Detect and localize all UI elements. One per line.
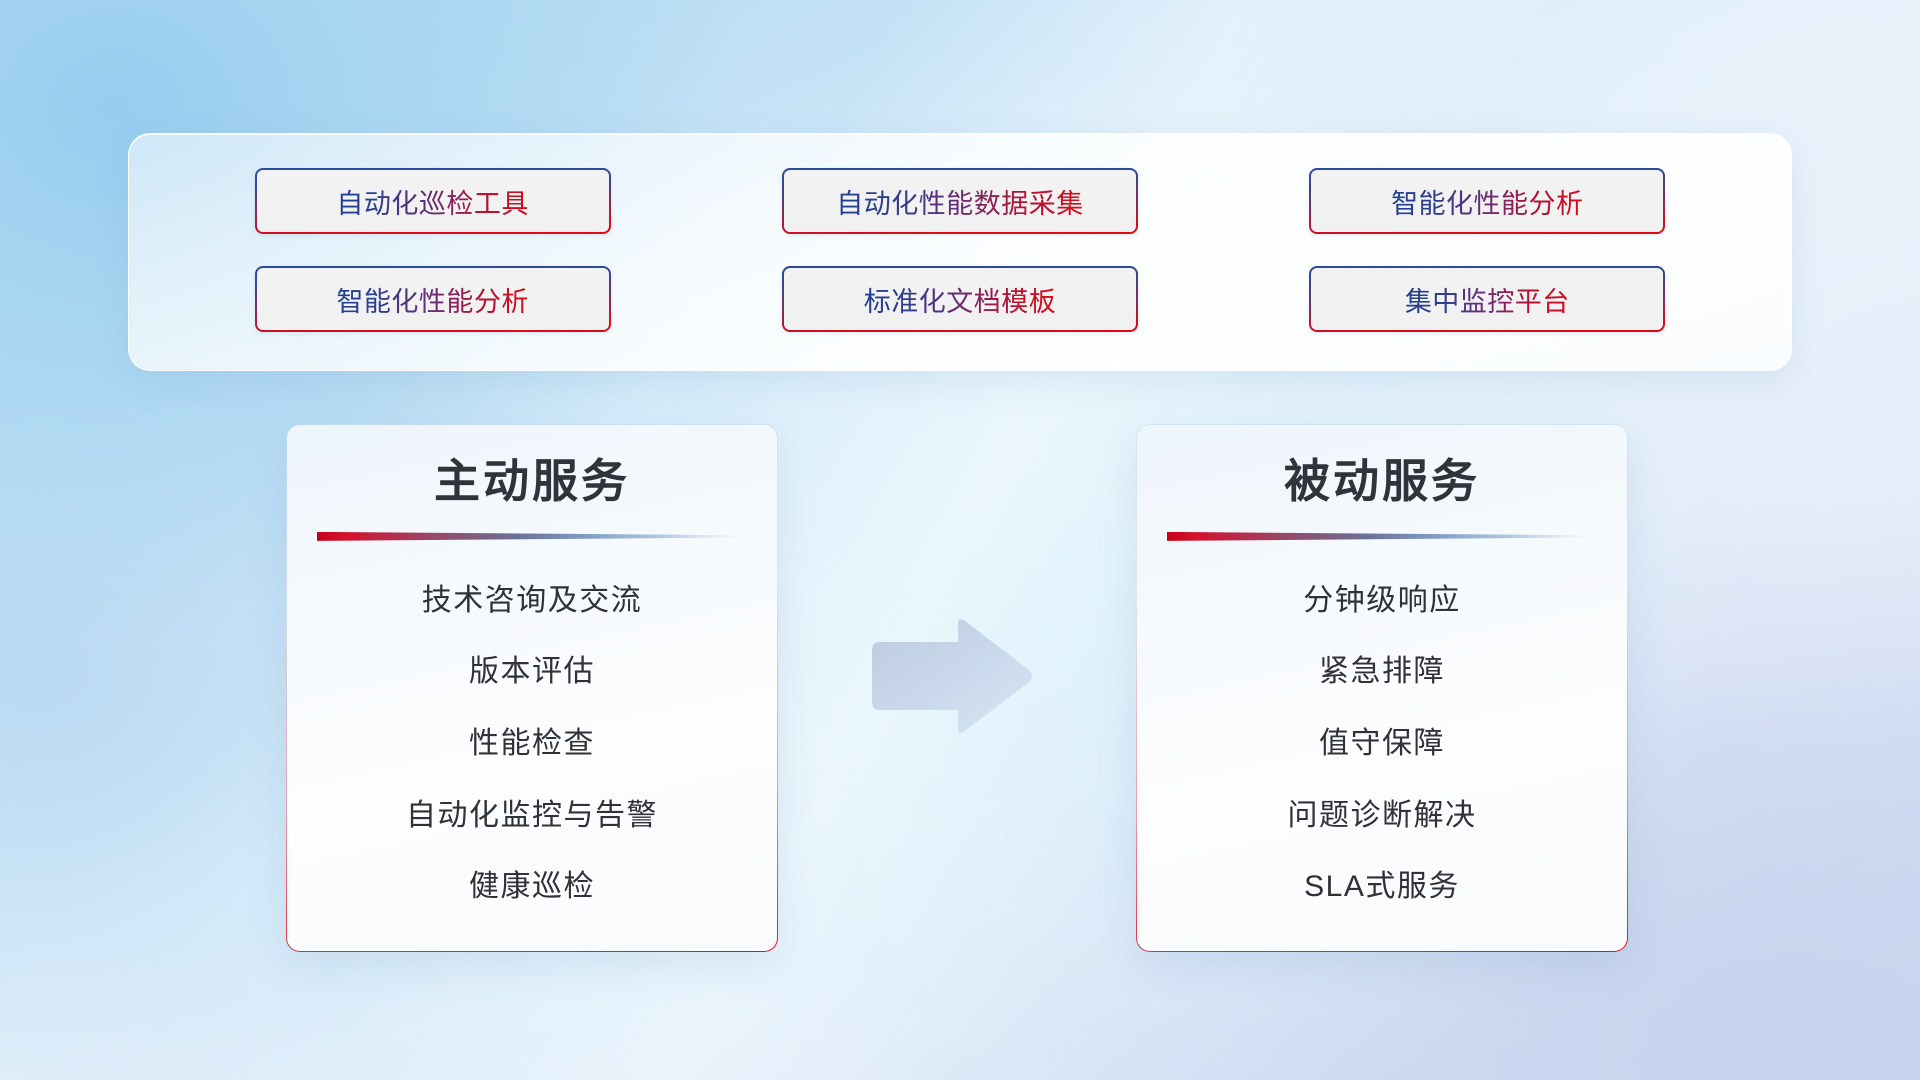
capability-pill-label: 标准化文档模板 xyxy=(864,280,1057,319)
service-card-proactive: 主动服务 技术咨询及交流 版本评估 性能检查 自动化监控与告警 健康巡检 xyxy=(286,424,778,952)
service-item: 技术咨询及交流 xyxy=(422,575,643,619)
service-card-title: 主动服务 xyxy=(317,455,747,508)
service-item: 自动化监控与告警 xyxy=(406,790,658,834)
service-item: 紧急排障 xyxy=(1319,646,1445,690)
capabilities-panel: 自动化巡检工具 自动化性能数据采集 智能化性能分析 智能化性能分析 标准化文档模… xyxy=(128,133,1792,371)
capability-pill-label: 自动化性能数据采集 xyxy=(836,182,1084,221)
service-item-list: 技术咨询及交流 版本评估 性能检查 自动化监控与告警 健康巡检 xyxy=(317,547,747,927)
service-item: SLA式服务 xyxy=(1304,861,1460,905)
capability-pill-6[interactable]: 集中监控平台 xyxy=(1309,266,1665,332)
capability-pill-1[interactable]: 自动化巡检工具 xyxy=(255,168,611,234)
capability-pill-label: 智能化性能分析 xyxy=(1391,182,1584,221)
service-item: 问题诊断解决 xyxy=(1288,790,1477,834)
service-card-reactive: 被动服务 分钟级响应 紧急排障 值守保障 问题诊断解决 SLA式服务 xyxy=(1136,424,1628,952)
capability-pill-3[interactable]: 智能化性能分析 xyxy=(1309,168,1665,234)
service-item: 版本评估 xyxy=(469,646,595,690)
service-item-list: 分钟级响应 紧急排障 值守保障 问题诊断解决 SLA式服务 xyxy=(1167,547,1597,927)
capability-pill-label: 自动化巡检工具 xyxy=(336,182,529,221)
service-item: 健康巡检 xyxy=(469,861,595,905)
service-item: 值守保障 xyxy=(1319,718,1445,762)
service-item: 分钟级响应 xyxy=(1303,575,1461,619)
right-arrow-icon xyxy=(862,614,1036,738)
service-card-title: 被动服务 xyxy=(1167,455,1597,508)
card-divider xyxy=(317,532,747,541)
card-divider xyxy=(1167,532,1597,541)
service-item: 性能检查 xyxy=(469,718,595,762)
capability-pill-4[interactable]: 智能化性能分析 xyxy=(255,266,611,332)
capability-pill-5[interactable]: 标准化文档模板 xyxy=(782,266,1138,332)
capability-pill-2[interactable]: 自动化性能数据采集 xyxy=(782,168,1138,234)
capability-pill-label: 集中监控平台 xyxy=(1405,280,1570,319)
flow-arrow xyxy=(862,614,1036,738)
capability-pill-label: 智能化性能分析 xyxy=(336,280,529,319)
